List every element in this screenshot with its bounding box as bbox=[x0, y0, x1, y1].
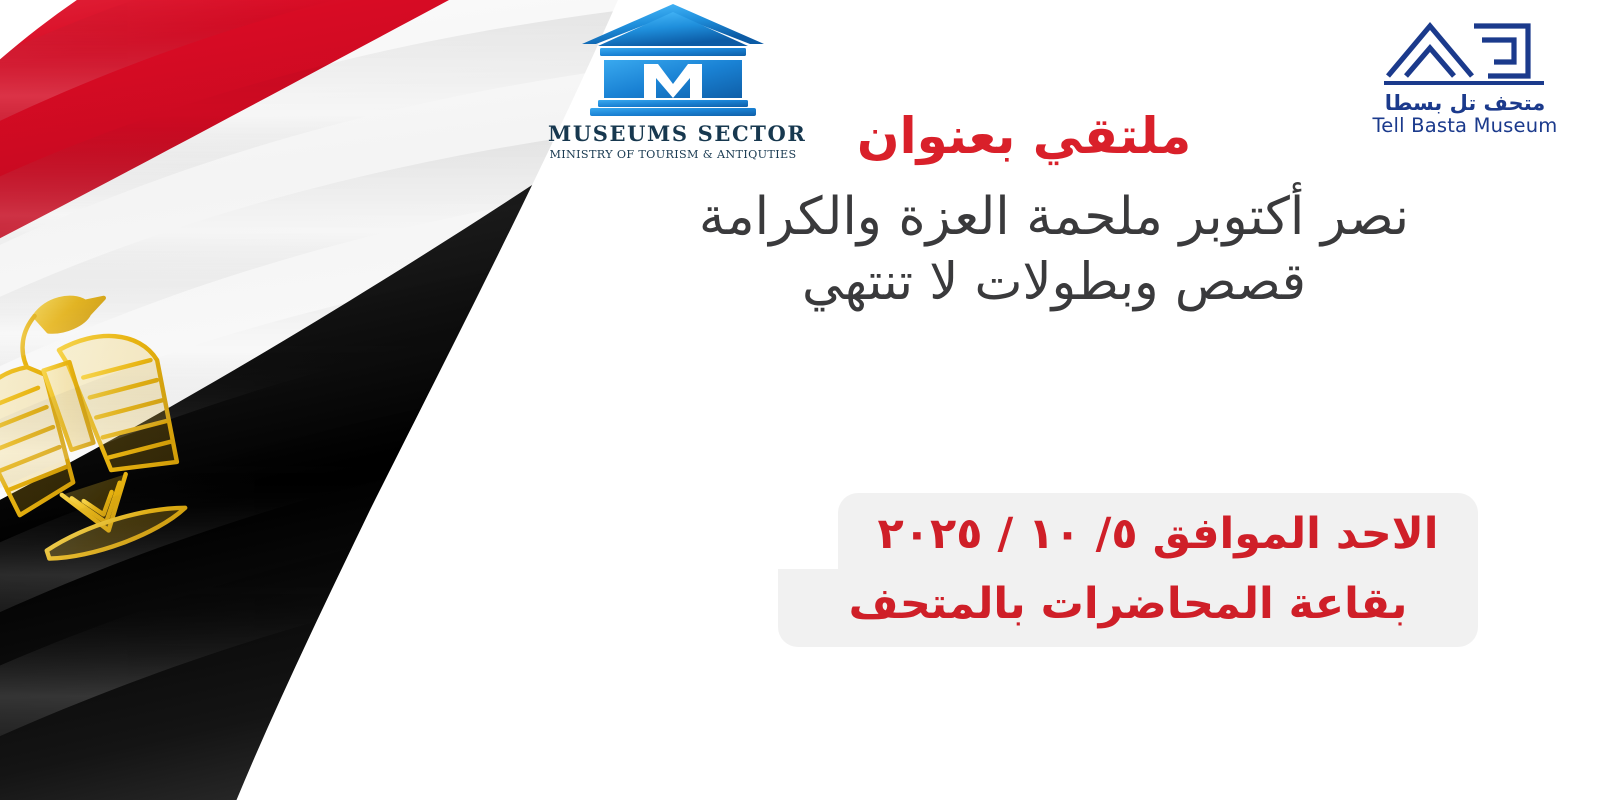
event-venue-plate: بقاعة المحاضرات بالمتحف bbox=[778, 569, 1478, 647]
event-subject-line-1: نصر أكتوبر ملحمة العزة والكرامة bbox=[604, 184, 1504, 251]
tell-basta-monogram-icon bbox=[1378, 14, 1553, 92]
museum-building-icon bbox=[578, 2, 768, 120]
headline-block: ملتقي بعنوان نصر أكتوبر ملحمة العزة والك… bbox=[604, 108, 1504, 315]
poster-canvas: MUSEUMS SECTOR MINISTRY OF TOURISM & ANT… bbox=[0, 0, 1600, 800]
event-subject: نصر أكتوبر ملحمة العزة والكرامة قصص وبطو… bbox=[604, 184, 1504, 316]
event-info-plates: الاحد الموافق ٥/ ١٠ / ٢٠٢٥ بقاعة المحاضر… bbox=[778, 493, 1478, 647]
event-date-plate: الاحد الموافق ٥/ ١٠ / ٢٠٢٥ bbox=[838, 493, 1478, 569]
event-subject-line-2: قصص وبطولات لا تنتهي bbox=[604, 250, 1504, 315]
event-kicker: ملتقي بعنوان bbox=[604, 108, 1504, 166]
